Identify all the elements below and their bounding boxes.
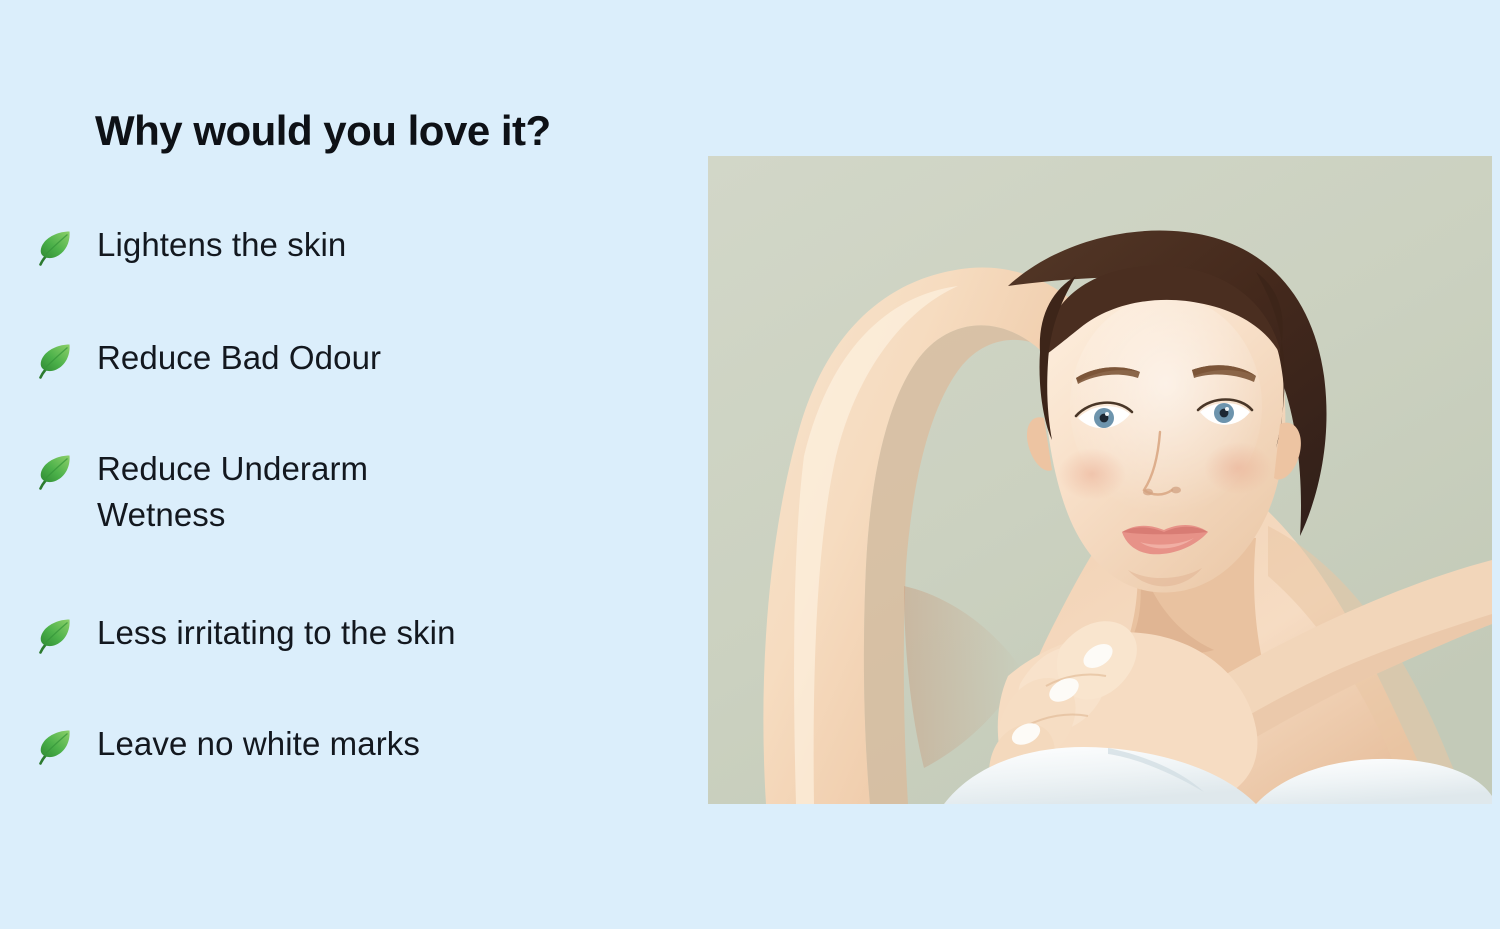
benefits-list: Lightens the skin	[34, 222, 634, 767]
leaf-icon	[34, 448, 76, 494]
slide-canvas: Why would you love it?	[0, 0, 1500, 929]
benefit-item: Reduce Bad Odour	[34, 335, 634, 381]
leaf-icon	[34, 723, 76, 769]
leaf-icon	[34, 612, 76, 658]
benefit-item: Lightens the skin	[34, 222, 634, 268]
left-content-column: Why would you love it?	[0, 0, 640, 929]
benefit-item: Reduce Underarm Wetness	[34, 446, 634, 538]
product-model-photo: Young woman with dark hair pulled back r…	[708, 156, 1492, 804]
benefit-item: Less irritating to the skin	[34, 610, 634, 656]
benefit-label: Reduce Bad Odour	[76, 335, 634, 381]
benefit-label: Reduce Underarm Wetness	[76, 446, 467, 538]
benefit-label: Lightens the skin	[76, 222, 634, 268]
leaf-icon	[34, 224, 76, 270]
benefit-item: Leave no white marks	[34, 721, 634, 767]
leaf-icon	[34, 337, 76, 383]
benefit-label: Leave no white marks	[76, 721, 634, 767]
benefit-label: Less irritating to the skin	[76, 610, 634, 656]
page-title: Why would you love it?	[95, 107, 551, 155]
